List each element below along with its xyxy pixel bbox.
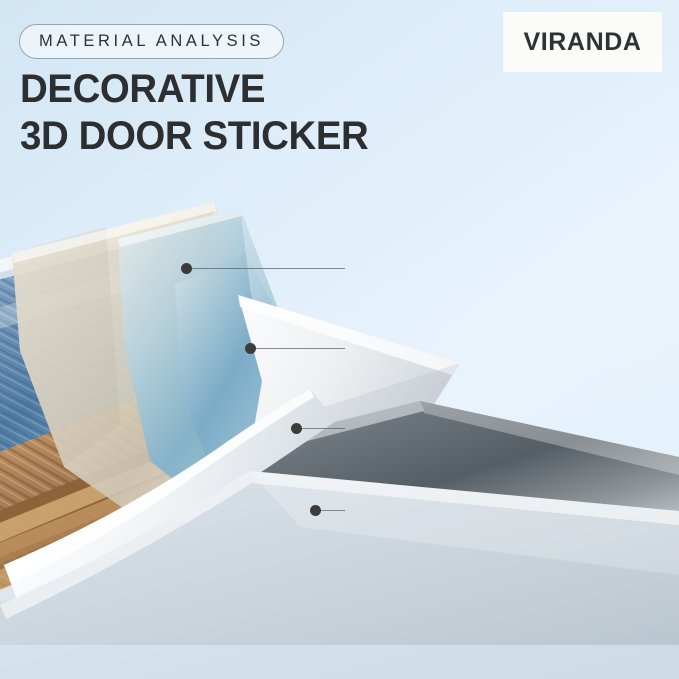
callout-leader-2	[256, 348, 345, 349]
poster-root: MATERIAL ANALYSIS DECORATIVE 3D DOOR STI…	[0, 0, 679, 679]
callout-dot-4	[310, 505, 321, 516]
badge-label: MATERIAL ANALYSIS	[39, 32, 264, 51]
material-analysis-badge: MATERIAL ANALYSIS	[19, 24, 284, 59]
artwork-svg	[0, 175, 679, 679]
callout-dot-2	[245, 343, 256, 354]
brand-name: VIRANDA	[523, 28, 641, 57]
callout-leader-3	[302, 428, 345, 429]
brand-logo: VIRANDA	[503, 12, 662, 72]
callout-dot-1	[181, 263, 192, 274]
title-line-1: DECORATIVE	[20, 66, 471, 113]
product-artwork	[0, 175, 679, 679]
callout-leader-1	[192, 268, 345, 269]
page-title: DECORATIVE 3D DOOR STICKER	[20, 66, 490, 160]
callout-leader-4	[321, 510, 345, 511]
callout-dot-3	[291, 423, 302, 434]
title-line-2: 3D DOOR STICKER	[20, 113, 471, 160]
